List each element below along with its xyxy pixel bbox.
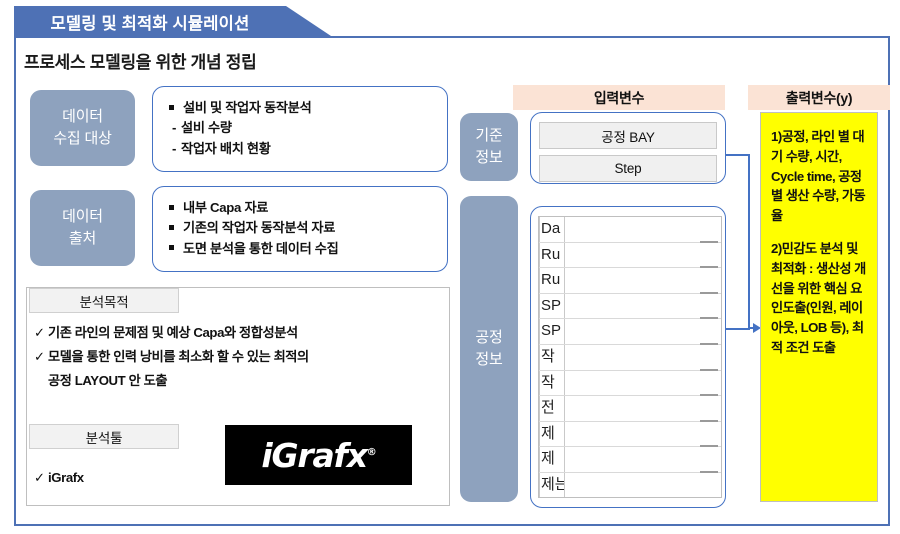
table-row[interactable]: Ru — [539, 243, 721, 269]
purpose-item-label: 기존 라인의 문제점 및 예상 Capa와 정합성분석 — [48, 325, 298, 340]
row-tick-icon — [700, 497, 718, 498]
field-process-bay[interactable]: 공정 BAY — [539, 122, 717, 149]
square-bullet-icon — [169, 245, 174, 250]
list-item: 도면 분석을 통한 데이터 수집 — [169, 239, 447, 259]
list-item-label: 기존의 작업자 동작분석 자료 — [183, 220, 335, 235]
section-tab-label: 모델링 및 최적화 시뮬레이션 — [14, 6, 286, 38]
igrafx-wordmark: iGrafx — [261, 436, 366, 475]
table-cell-label: Ru — [539, 268, 565, 293]
connector-vertical — [748, 154, 750, 329]
pill-line: 공정 — [475, 327, 502, 349]
table-cell-label: 제 — [539, 422, 565, 447]
registered-mark-icon: ® — [367, 447, 376, 458]
igrafx-logo: iGrafx® — [225, 425, 412, 485]
list-item-label: 설비 수량 — [181, 120, 232, 135]
list-item: 내부 Capa 자료 — [169, 198, 447, 218]
table-cell-label: SP — [539, 294, 565, 319]
table-cell-label: Ru — [539, 243, 565, 268]
pill-line: 데이터 — [62, 206, 103, 228]
check-icon: ✓ — [34, 325, 48, 341]
pill-process-info: 공정 정보 — [460, 196, 518, 502]
analysis-tool-header: 분석툴 — [29, 424, 179, 449]
pill-data-collection-target: 데이터 수집 대상 — [30, 90, 135, 166]
slide-root: 모델링 및 최적화 시뮬레이션 프로세스 모델링을 위한 개념 정립 데이터 수… — [0, 0, 900, 534]
tool-item: ✓iGrafx — [34, 470, 84, 486]
pill-line: 기준 — [475, 125, 502, 147]
list-item: 설비 및 작업자 동작분석 — [169, 98, 447, 118]
dash-bullet-icon: - — [169, 139, 179, 159]
output-variables-header: 출력변수(y) — [748, 85, 890, 110]
pill-line: 데이터 — [53, 106, 111, 128]
pill-data-source: 데이터 출처 — [30, 190, 135, 266]
box-data-collection-target: 설비 및 작업자 동작분석 -설비 수량 -작업자 배치 현황 — [152, 86, 448, 172]
table-row[interactable]: Da — [539, 217, 721, 243]
check-icon: ✓ — [34, 349, 48, 365]
table-cell-label: SP — [539, 319, 565, 344]
list-item-label: 작업자 배치 현황 — [181, 141, 271, 156]
table-row[interactable]: 제 — [539, 422, 721, 448]
dash-bullet-icon: - — [169, 118, 179, 138]
pill-line: 수집 대상 — [53, 128, 111, 150]
table-cell-label: 작 — [539, 371, 565, 396]
table-cell-label: 전 — [539, 396, 565, 421]
tool-item-label: iGrafx — [48, 470, 84, 485]
purpose-item-label: 모델을 통한 인력 낭비를 최소화 할 수 있는 최적의 — [48, 349, 309, 364]
table-row[interactable]: 전 — [539, 396, 721, 422]
output-paragraph-1: 1)공정, 라인 별 대기 수량, 시간, Cycle time, 공정별 생산… — [771, 127, 869, 226]
table-row[interactable]: 작 — [539, 371, 721, 397]
list-item: -설비 수량 — [169, 118, 447, 138]
table-row[interactable]: SP — [539, 294, 721, 320]
section-tab: 모델링 및 최적화 시뮬레이션 — [14, 6, 334, 38]
purpose-item: 공정 LAYOUT 안 도출 — [48, 370, 167, 389]
check-icon: ✓ — [34, 470, 48, 486]
output-paragraph-2: 2)민감도 분석 및 최적화 : 생산성 개선을 위한 핵심 요인도출(인원, … — [771, 239, 869, 358]
analysis-purpose-header: 분석목적 — [29, 288, 179, 313]
table-cell-label: 제 — [539, 447, 565, 472]
pill-line: 정보 — [475, 349, 502, 371]
table-cell-label: 제는 — [539, 473, 565, 498]
list-item: 기존의 작업자 동작분석 자료 — [169, 218, 447, 238]
process-info-table[interactable]: Da Ru Ru SP SP 작 작 전 제 제 제는 — [538, 216, 722, 498]
igrafx-logo-text: iGrafx® — [261, 436, 375, 475]
purpose-item-label: 공정 LAYOUT 안 도출 — [48, 373, 167, 388]
table-row[interactable]: SP — [539, 319, 721, 345]
table-row[interactable]: Ru — [539, 268, 721, 294]
list-item-label: 내부 Capa 자료 — [183, 200, 268, 215]
square-bullet-icon — [169, 205, 174, 210]
purpose-item: ✓모델을 통한 인력 낭비를 최소화 할 수 있는 최적의 — [34, 346, 309, 365]
pill-line: 정보 — [475, 147, 502, 169]
page-title: 프로세스 모델링을 위한 개념 정립 — [24, 48, 256, 73]
connector-basic-info — [726, 154, 750, 156]
input-variables-header: 입력변수 — [513, 85, 725, 110]
table-row[interactable]: 제 — [539, 447, 721, 473]
table-row[interactable]: 제는 — [539, 473, 721, 498]
purpose-item: ✓기존 라인의 문제점 및 예상 Capa와 정합성분석 — [34, 322, 298, 341]
square-bullet-icon — [169, 105, 174, 110]
table-cell-label: 작 — [539, 345, 565, 370]
list-item-label: 설비 및 작업자 동작분석 — [183, 100, 311, 115]
table-row[interactable]: 작 — [539, 345, 721, 371]
list-item: -작업자 배치 현황 — [169, 139, 447, 159]
pill-basic-info: 기준 정보 — [460, 113, 518, 181]
table-cell-label: Da — [539, 217, 565, 242]
list-item-label: 도면 분석을 통한 데이터 수집 — [183, 241, 338, 256]
box-data-source: 내부 Capa 자료 기존의 작업자 동작분석 자료 도면 분석을 통한 데이터… — [152, 186, 448, 272]
pill-line: 출처 — [62, 228, 103, 250]
output-variables-box: 1)공정, 라인 별 대기 수량, 시간, Cycle time, 공정별 생산… — [760, 112, 878, 502]
square-bullet-icon — [169, 225, 174, 230]
connector-process-info — [726, 328, 750, 330]
field-step[interactable]: Step — [539, 155, 717, 182]
